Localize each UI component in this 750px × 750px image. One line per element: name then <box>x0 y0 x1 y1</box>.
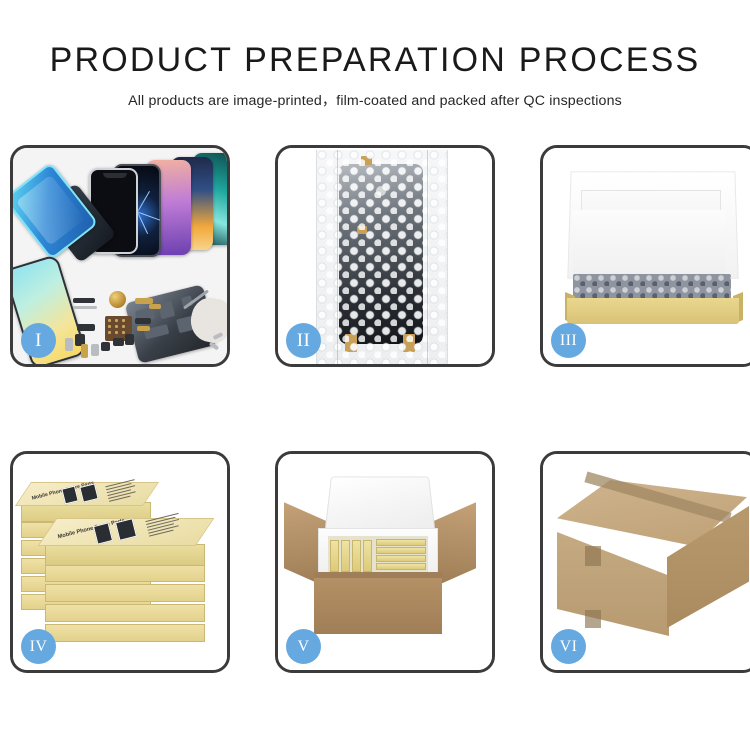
step-panel-5: V <box>275 451 495 673</box>
foam-inner-contents <box>328 536 428 574</box>
step-3-badge: III <box>551 323 586 358</box>
page-title: PRODUCT PREPARATION PROCESS <box>0 42 750 79</box>
step-panel-6: VI <box>540 451 750 673</box>
step-4-badge: IV <box>21 629 56 664</box>
step-5-badge: V <box>286 629 321 664</box>
step-2-badge: II <box>286 323 321 358</box>
step-panel-1: I <box>10 145 230 367</box>
step-1-badge: I <box>21 323 56 358</box>
step-panel-2: II <box>275 145 495 367</box>
header: PRODUCT PREPARATION PROCESS All products… <box>0 0 750 110</box>
process-steps-grid: I II <box>10 145 740 673</box>
step-6-badge: VI <box>551 629 586 664</box>
box-stack: Mobile Phone Spare Parts Mobile Phone Sp… <box>19 474 227 654</box>
product-preparation-process-infographic: PRODUCT PREPARATION PROCESS All products… <box>0 0 750 750</box>
page-subtitle: All products are image-printed，film-coat… <box>0 90 750 110</box>
step-panel-3: III <box>540 145 750 367</box>
step-panel-4: Mobile Phone Spare Parts Mobile Phone Sp… <box>10 451 230 673</box>
